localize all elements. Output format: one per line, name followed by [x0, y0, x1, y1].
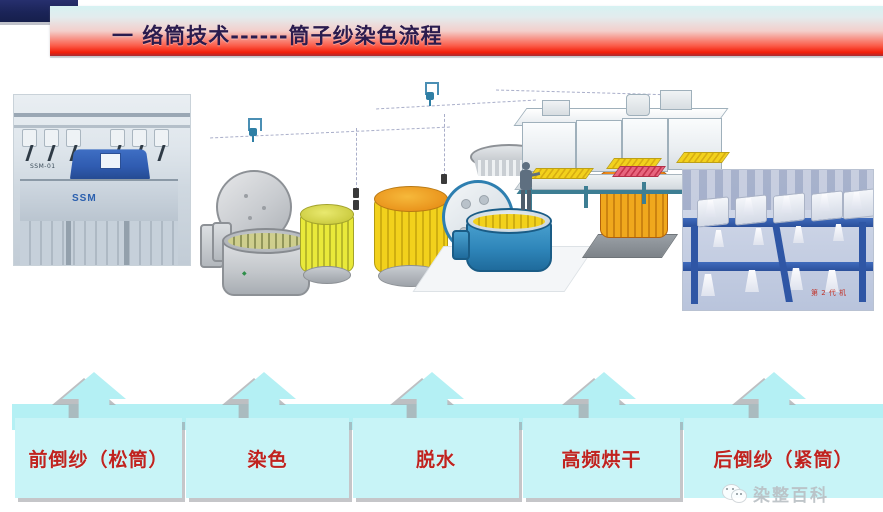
machine-leg: [691, 226, 698, 304]
process-step-label: 脱水: [416, 445, 456, 472]
process-step-4[interactable]: 高频烘干: [523, 418, 680, 498]
machine-panel-text: SSM-01: [30, 163, 56, 170]
vessel-mouth: [222, 228, 310, 254]
vessel-badge: ◆: [242, 270, 247, 277]
hoist-drop-line: [356, 128, 357, 190]
operator-figure: [518, 162, 534, 210]
carrier-base: [303, 266, 351, 284]
flow-arrow: [572, 372, 636, 424]
process-step-3[interactable]: 脱水: [353, 418, 519, 498]
hoist-weight: [353, 200, 359, 210]
hoist-weight: [353, 188, 359, 198]
machine-brand-label: SSM: [72, 193, 97, 204]
soft-package-loading-vessel: ◆: [200, 170, 308, 290]
illustration-canvas: SSM-01 SSM: [0, 60, 883, 360]
monorail-track: [210, 127, 450, 139]
watermark-text: 染整百科: [753, 481, 829, 506]
dyer-side-pipe: [452, 230, 470, 260]
machine-rail: [14, 113, 190, 117]
tunnel-duct: [660, 90, 692, 110]
tunnel-yarn-load: [612, 166, 666, 177]
process-step-2[interactable]: 染色: [186, 418, 349, 498]
machine-rail-secondary: [14, 125, 190, 128]
yarn-cone: [745, 270, 759, 292]
yarn-arm: [25, 145, 33, 161]
slide-title: 一 络筒技术------筒子纱染色流程: [112, 20, 443, 50]
hoist-hook: [252, 135, 254, 142]
flow-arrow: [232, 372, 296, 424]
package-top: [300, 204, 354, 225]
operator-leg: [527, 190, 531, 210]
machine-leg: [66, 221, 71, 265]
yarn-carrier-tubes: [228, 233, 304, 249]
tunnel-yarn-load: [676, 152, 730, 163]
title-banner: 一 络筒技术------筒子纱染色流程: [50, 6, 883, 56]
machine-leg: [124, 221, 129, 265]
tunnel-leg: [584, 186, 588, 208]
yarn-cone: [701, 274, 715, 296]
yarn-arm: [47, 145, 55, 161]
spindle: [110, 129, 125, 147]
slide-root: 一 络筒技术------筒子纱染色流程 SSM-01 SSM: [0, 0, 883, 512]
process-step-label: 高频烘干: [561, 445, 641, 472]
spindle: [44, 129, 59, 147]
yarn-arm: [157, 145, 165, 161]
tunnel-leg: [642, 182, 646, 204]
yarn-carrier-stack: [300, 204, 352, 276]
yarn-cone: [789, 268, 803, 290]
monorail-track: [376, 100, 536, 110]
cone-winder-photo: 第 2 代 机: [683, 170, 873, 310]
spindle: [132, 129, 147, 147]
machine-base: [20, 221, 178, 265]
flow-arrow: [400, 372, 464, 424]
ssm-winding-machine-photo: SSM-01 SSM: [14, 95, 190, 265]
process-step-label: 前倒纱（松筒）: [28, 445, 168, 472]
photo-stamp: 第 2 代 机: [811, 288, 847, 298]
spindle: [154, 129, 169, 147]
operator-leg: [521, 190, 525, 210]
hoist-trolley: [248, 118, 258, 138]
yarn-cone: [753, 228, 764, 245]
tunnel-duct: [626, 94, 650, 116]
spindle: [66, 129, 81, 147]
flow-arrow: [62, 372, 126, 424]
process-step-1[interactable]: 前倒纱（松筒）: [15, 418, 182, 498]
hoist-hook: [429, 99, 431, 106]
control-screen: [100, 153, 121, 169]
flow-arrow: [742, 372, 806, 424]
machine-leg: [859, 222, 866, 302]
yarn-cone: [713, 230, 724, 247]
tunnel-duct: [542, 100, 570, 116]
operator-head: [522, 162, 530, 170]
machine-beam: [683, 262, 873, 271]
wechat-icon: [722, 483, 748, 503]
watermark: 染整百科: [722, 478, 882, 508]
yarn-cone: [793, 226, 804, 243]
title-underline: [50, 56, 883, 58]
hoist-trolley: [425, 82, 435, 102]
package-dyeing-process-schematic: ◆: [196, 70, 736, 315]
process-step-label: 后倒纱（紧筒）: [713, 445, 853, 472]
process-step-label: 染色: [247, 445, 287, 472]
machine-body: [20, 179, 178, 223]
spindle: [22, 129, 37, 147]
